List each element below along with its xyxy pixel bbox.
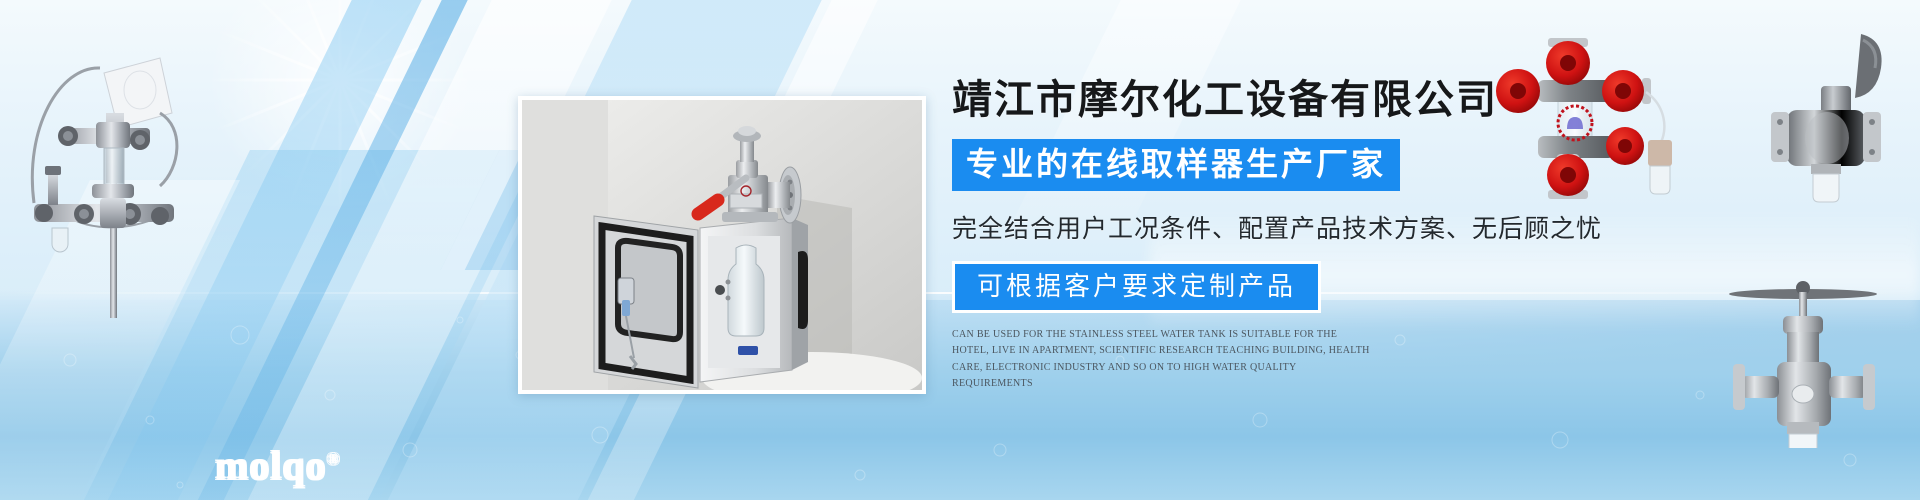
product-photo <box>518 96 926 394</box>
headline-badge: 专业的在线取样器生产厂家 <box>952 139 1400 191</box>
banner-copy-block: 靖江市摩尔化工设备有限公司 专业的在线取样器生产厂家 完全结合用户工况条件、配置… <box>952 78 1512 393</box>
english-description: CAN BE USED FOR THE STAINLESS STEEL WATE… <box>952 327 1377 393</box>
right-sampling-valve-illustration <box>1695 258 1920 448</box>
company-name: 靖江市摩尔化工设备有限公司 <box>952 78 1512 123</box>
subline-text: 完全结合用户工况条件、配置产品技术方案、无后顾之忧 <box>952 209 1512 245</box>
right-red-valve-manifold-illustration <box>1480 18 1730 203</box>
custom-product-badge: 可根据客户要求定制产品 <box>952 261 1321 313</box>
watermark-logo: molqo® <box>215 442 339 489</box>
left-sampling-device-illustration <box>0 18 200 318</box>
watermark-logo-text: molqo <box>215 443 327 488</box>
hero-banner: 靖江市摩尔化工设备有限公司 专业的在线取样器生产厂家 完全结合用户工况条件、配置… <box>0 0 1920 500</box>
registered-trademark-icon: ® <box>327 450 340 469</box>
right-flanged-valve-illustration <box>1735 28 1915 208</box>
